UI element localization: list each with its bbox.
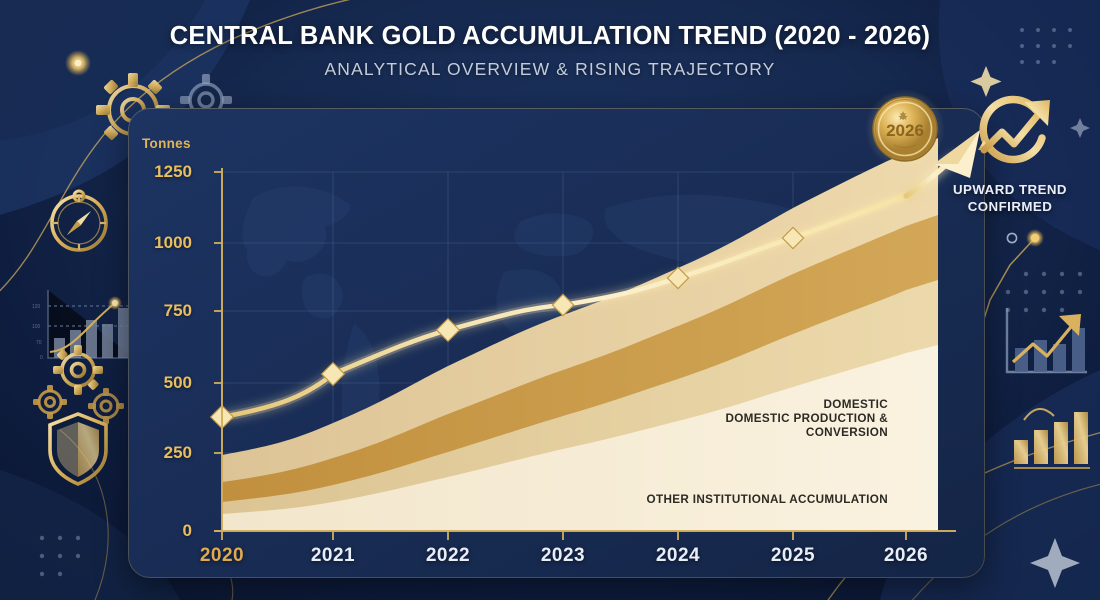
svg-text:120: 120 (32, 304, 41, 310)
series-label-line-2: DOMESTIC PRODUCTION & CONVERSION (688, 412, 888, 440)
shield-icon (36, 400, 120, 492)
x-tick-2026: 2026 (884, 545, 928, 567)
series-label-domestic-production: DOMESTIC DOMESTIC PRODUCTION & CONVERSIO… (688, 398, 888, 440)
x-axis-ticks: 2020 2021 2022 2023 2024 2025 2026 (128, 108, 985, 578)
x-tick-2024: 2024 (656, 545, 700, 567)
compass-icon (35, 175, 123, 263)
series-label-other-institutional: OTHER INSTITUTIONAL ACCUMULATION (548, 493, 888, 507)
annotation-line-2: CONFIRMED (930, 199, 1090, 216)
gold-bar-chart-icon (1000, 392, 1096, 478)
x-tick-2021: 2021 (311, 545, 355, 567)
header: CENTRAL BANK GOLD ACCUMULATION TREND (20… (0, 22, 1100, 80)
trend-arrow-bar-chart-icon (995, 300, 1095, 392)
page-subtitle: ANALYTICAL OVERVIEW & RISING TRAJECTORY (0, 59, 1100, 80)
upward-trend-label: UPWARD TREND CONFIRMED (930, 182, 1090, 215)
series-label-line-1: DOMESTIC (688, 398, 888, 412)
chart-panel: Tonnes 1250 1000 750 500 250 0 2020 2021… (128, 108, 985, 578)
x-tick-2023: 2023 (541, 545, 585, 567)
gold-medal-icon: 2026 (864, 88, 946, 170)
x-tick-2022: 2022 (426, 545, 470, 567)
x-tick-2020: 2020 (200, 545, 244, 567)
page-title: CENTRAL BANK GOLD ACCUMULATION TREND (20… (0, 22, 1100, 51)
upward-trend-annotation: UPWARD TREND CONFIRMED (930, 88, 1090, 215)
trending-up-refresh-icon (950, 88, 1070, 178)
annotation-line-1: UPWARD TREND (930, 182, 1090, 199)
x-tick-2025: 2025 (771, 545, 815, 567)
medal-year-label: 2026 (886, 121, 924, 140)
